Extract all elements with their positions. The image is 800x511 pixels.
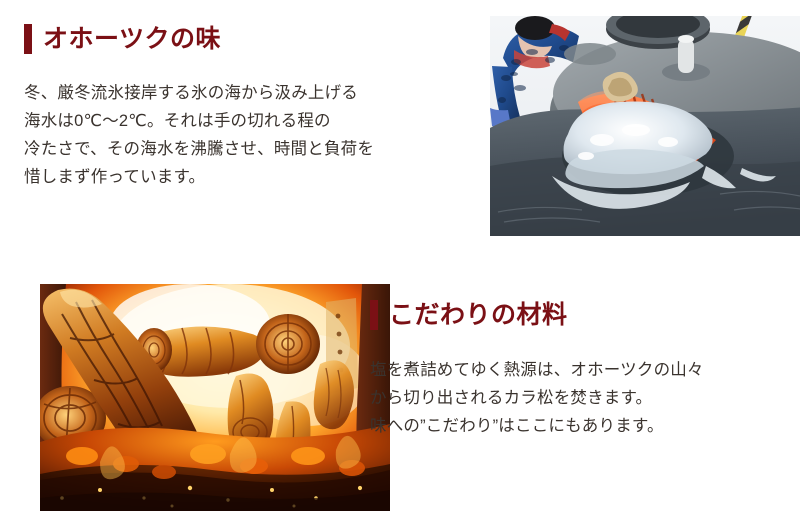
section-kodawari: こだわりの材料 塩を煮詰めてゆく熱源は、オホーツクの山々 から切り出されるカラ松… (0, 232, 800, 495)
heading-accent-bar-icon (370, 300, 378, 330)
kodawari-heading-text: こだわりの材料 (389, 303, 568, 328)
seawater-pump-photo (490, 16, 800, 236)
kodawari-text-column: こだわりの材料 塩を煮詰めてゆく熱源は、オホーツクの山々 から切り出されるカラ松… (370, 300, 785, 440)
ohotsuku-text-column: オホーツクの味 冬、厳冬流氷接岸する氷の海から汲み上げる 海水は0℃〜2℃。それ… (24, 24, 439, 191)
kodawari-body-text: 塩を煮詰めてゆく熱源は、オホーツクの山々 から切り出されるカラ松を焚きます。 味… (370, 356, 785, 440)
ohotsuku-heading: オホーツクの味 (24, 24, 439, 54)
ohotsuku-body-text: 冬、厳冬流氷接岸する氷の海から汲み上げる 海水は0℃〜2℃。それは手の切れる程の… (24, 79, 439, 191)
section-ohotsuku: オホーツクの味 冬、厳冬流氷接岸する氷の海から汲み上げる 海水は0℃〜2℃。それ… (0, 0, 800, 232)
heading-accent-bar-icon (24, 24, 32, 54)
kodawari-heading: こだわりの材料 (370, 300, 785, 330)
firewood-furnace-photo (40, 284, 390, 511)
ohotsuku-heading-text: オホーツクの味 (43, 27, 221, 52)
